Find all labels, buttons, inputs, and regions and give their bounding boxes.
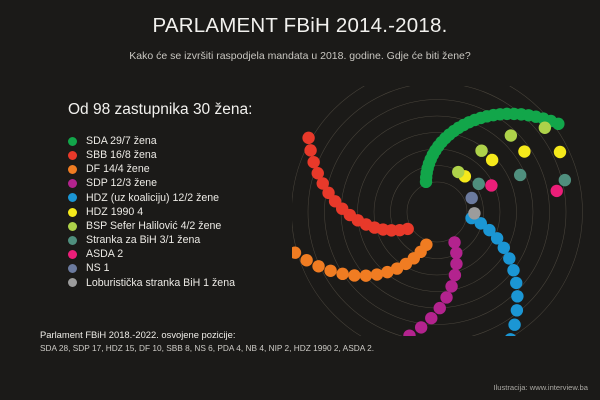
legend-item: ASDA 2 — [68, 248, 318, 262]
grid-ring — [407, 182, 467, 242]
legend-item: HDZ (uz koaliciju) 12/2 žene — [68, 191, 318, 205]
legend-item: Stranka za BiH 3/1 žena — [68, 233, 318, 247]
page-subtitle: Kako će se izvršiti raspodjela mandata u… — [0, 50, 600, 62]
seat-dot — [551, 185, 563, 197]
seat-dot — [449, 269, 461, 281]
legend-color-swatch — [68, 278, 77, 287]
seat-dot — [445, 280, 457, 292]
legend-item-label: DF 14/4 žene — [86, 164, 150, 175]
seat-dot — [485, 179, 497, 191]
seat-dot — [514, 169, 526, 181]
legend-item-label: HDZ 1990 4 — [86, 207, 143, 218]
seat-dot — [452, 166, 464, 178]
legend-item-label: HDZ (uz koaliciju) 12/2 žene — [86, 193, 219, 204]
seat-dot — [348, 269, 360, 281]
legend-item-label: SDA 29/7 žena — [86, 136, 157, 147]
seat-dot — [503, 252, 515, 264]
seat-dot — [324, 265, 336, 277]
infographic-canvas: PARLAMENT FBiH 2014.-2018. Kako će se iz… — [0, 0, 600, 400]
credit-attribution: Ilustracija: www.interview.ba — [493, 383, 588, 392]
seat-dot — [300, 254, 312, 266]
chart-dots — [292, 108, 571, 336]
legend-item-label: BSP Sefer Halilović 4/2 žene — [86, 221, 221, 232]
legend-color-swatch — [68, 165, 77, 174]
seat-dot — [486, 154, 498, 166]
radial-seat-chart — [292, 86, 592, 336]
legend-item-label: SDP 12/3 žene — [86, 178, 157, 189]
legend-color-swatch — [68, 236, 77, 245]
legend-item: BSP Sefer Halilović 4/2 žene — [68, 219, 318, 233]
legend-item-label: ASDA 2 — [86, 249, 123, 260]
seat-dot — [554, 146, 566, 158]
footer-results-list: SDA 28, SDP 17, HDZ 15, DF 10, SBB 8, NS… — [40, 343, 510, 353]
legend-item: Loburistička stranka BiH 1 žena — [68, 276, 318, 290]
legend-color-swatch — [68, 250, 77, 259]
legend-item-label: Stranka za BiH 3/1 žena — [86, 235, 200, 246]
seat-dot — [475, 144, 487, 156]
grid-ring — [374, 149, 500, 275]
seat-dot — [508, 319, 520, 331]
legend: SDA 29/7 ženaSBB 16/8 ženaDF 14/4 ženeSD… — [68, 134, 318, 290]
legend-color-swatch — [68, 222, 77, 231]
seat-dot — [448, 236, 460, 248]
legend-color-swatch — [68, 264, 77, 273]
seat-dot — [312, 260, 324, 272]
seat-dot — [511, 290, 523, 302]
seat-dot — [450, 247, 462, 259]
seat-dot — [440, 291, 452, 303]
footer-title: Parlament FBiH 2018.-2022. osvojene pozi… — [40, 329, 510, 340]
seat-dot — [425, 312, 437, 324]
seat-dot — [552, 118, 564, 130]
legend-item-label: Loburistička stranka BiH 1 žena — [86, 278, 235, 289]
seat-dot — [336, 268, 348, 280]
legend-color-swatch — [68, 193, 77, 202]
seat-dot — [371, 268, 383, 280]
footer: Parlament FBiH 2018.-2022. osvojene pozi… — [40, 329, 510, 353]
seat-dot — [473, 178, 485, 190]
seat-dot — [507, 264, 519, 276]
legend-item-label: NS 1 — [86, 263, 110, 274]
lead-statement: Od 98 zastupnika 30 žena: — [68, 101, 252, 119]
seat-dot — [307, 156, 319, 168]
seat-dot — [510, 277, 522, 289]
legend-item: SDP 12/3 žene — [68, 177, 318, 191]
seat-dot — [381, 266, 393, 278]
chart-gridlines — [292, 86, 583, 336]
legend-color-swatch — [68, 137, 77, 146]
legend-item: SBB 16/8 žena — [68, 148, 318, 162]
legend-color-swatch — [68, 208, 77, 217]
seat-dot — [498, 242, 510, 254]
seat-dot — [360, 269, 372, 281]
seat-dot — [511, 304, 523, 316]
seat-dot — [302, 132, 314, 144]
page-title: PARLAMENT FBiH 2014.-2018. — [0, 14, 600, 38]
legend-item: SDA 29/7 žena — [68, 134, 318, 148]
legend-item-label: SBB 16/8 žena — [86, 150, 157, 161]
legend-item: DF 14/4 žene — [68, 162, 318, 176]
grid-ring — [292, 86, 583, 336]
legend-color-swatch — [68, 151, 77, 160]
seat-dot — [312, 167, 324, 179]
seat-dot — [518, 145, 530, 157]
seat-dot — [505, 129, 517, 141]
seat-dot — [466, 192, 478, 204]
seat-dot — [304, 144, 316, 156]
legend-color-swatch — [68, 179, 77, 188]
legend-item: HDZ 1990 4 — [68, 205, 318, 219]
seat-dot — [468, 207, 480, 219]
seat-dot — [539, 122, 551, 134]
seat-dot — [292, 247, 301, 259]
seat-dot — [559, 174, 571, 186]
seat-dot — [450, 258, 462, 270]
legend-item: NS 1 — [68, 262, 318, 276]
seat-dot — [434, 302, 446, 314]
